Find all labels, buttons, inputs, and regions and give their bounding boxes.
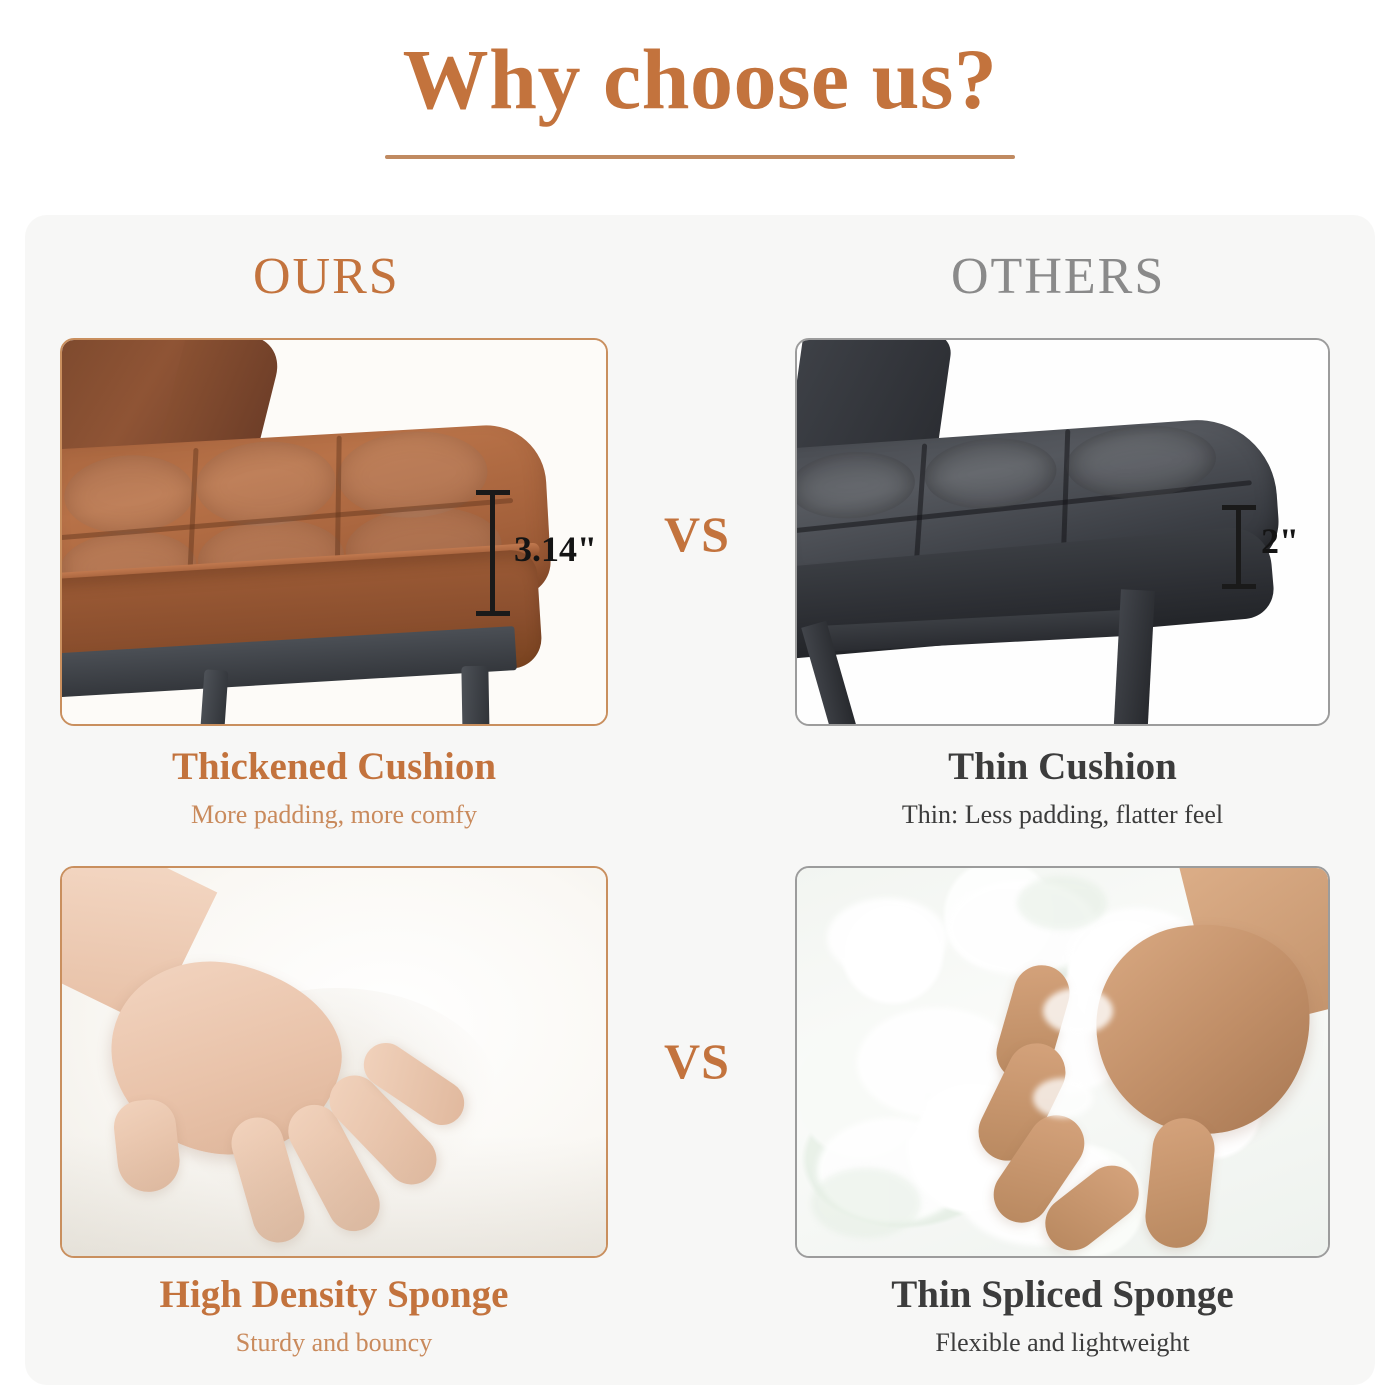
dimension-label-ours: 3.14" <box>514 528 597 570</box>
caption-heading: Thin Spliced Sponge <box>795 1272 1330 1319</box>
caption-heading: Thickened Cushion <box>60 744 608 791</box>
caption-others-sponge: Thin Spliced Sponge Flexible and lightwe… <box>795 1272 1330 1358</box>
black-chair-illustration <box>797 340 1328 724</box>
caption-others-cushion: Thin Cushion Thin: Less padding, flatter… <box>795 744 1330 830</box>
infographic-page: Why choose us? OURS OTHERS <box>0 0 1400 1400</box>
column-header-ours: OURS <box>253 247 400 306</box>
memory-foam-hand-illustration <box>62 868 606 1256</box>
caption-subtext: Thin: Less padding, flatter feel <box>795 800 1330 830</box>
column-header-others: OTHERS <box>951 247 1165 306</box>
vs-badge-row2: VS <box>664 1032 730 1090</box>
caption-heading: Thin Cushion <box>795 744 1330 791</box>
caption-subtext: Sturdy and bouncy <box>60 1328 608 1358</box>
page-title: Why choose us? <box>0 34 1400 124</box>
dimension-label-others: 2" <box>1261 520 1299 562</box>
page-title-block: Why choose us? <box>0 34 1400 124</box>
vs-badge-row1: VS <box>664 505 730 563</box>
caption-ours-cushion: Thickened Cushion More padding, more com… <box>60 744 608 830</box>
caption-subtext: Flexible and lightweight <box>795 1328 1330 1358</box>
title-underline-rule <box>385 155 1015 159</box>
image-panel-ours-sponge <box>60 866 608 1258</box>
caption-heading: High Density Sponge <box>60 1272 608 1319</box>
caption-subtext: More padding, more comfy <box>60 800 608 830</box>
image-panel-others-sponge <box>795 866 1330 1258</box>
polyester-fiber-hand-illustration <box>797 868 1328 1256</box>
image-panel-others-cushion: 2" <box>795 338 1330 726</box>
image-panel-ours-cushion: 3.14" <box>60 338 608 726</box>
caption-ours-sponge: High Density Sponge Sturdy and bouncy <box>60 1272 608 1358</box>
